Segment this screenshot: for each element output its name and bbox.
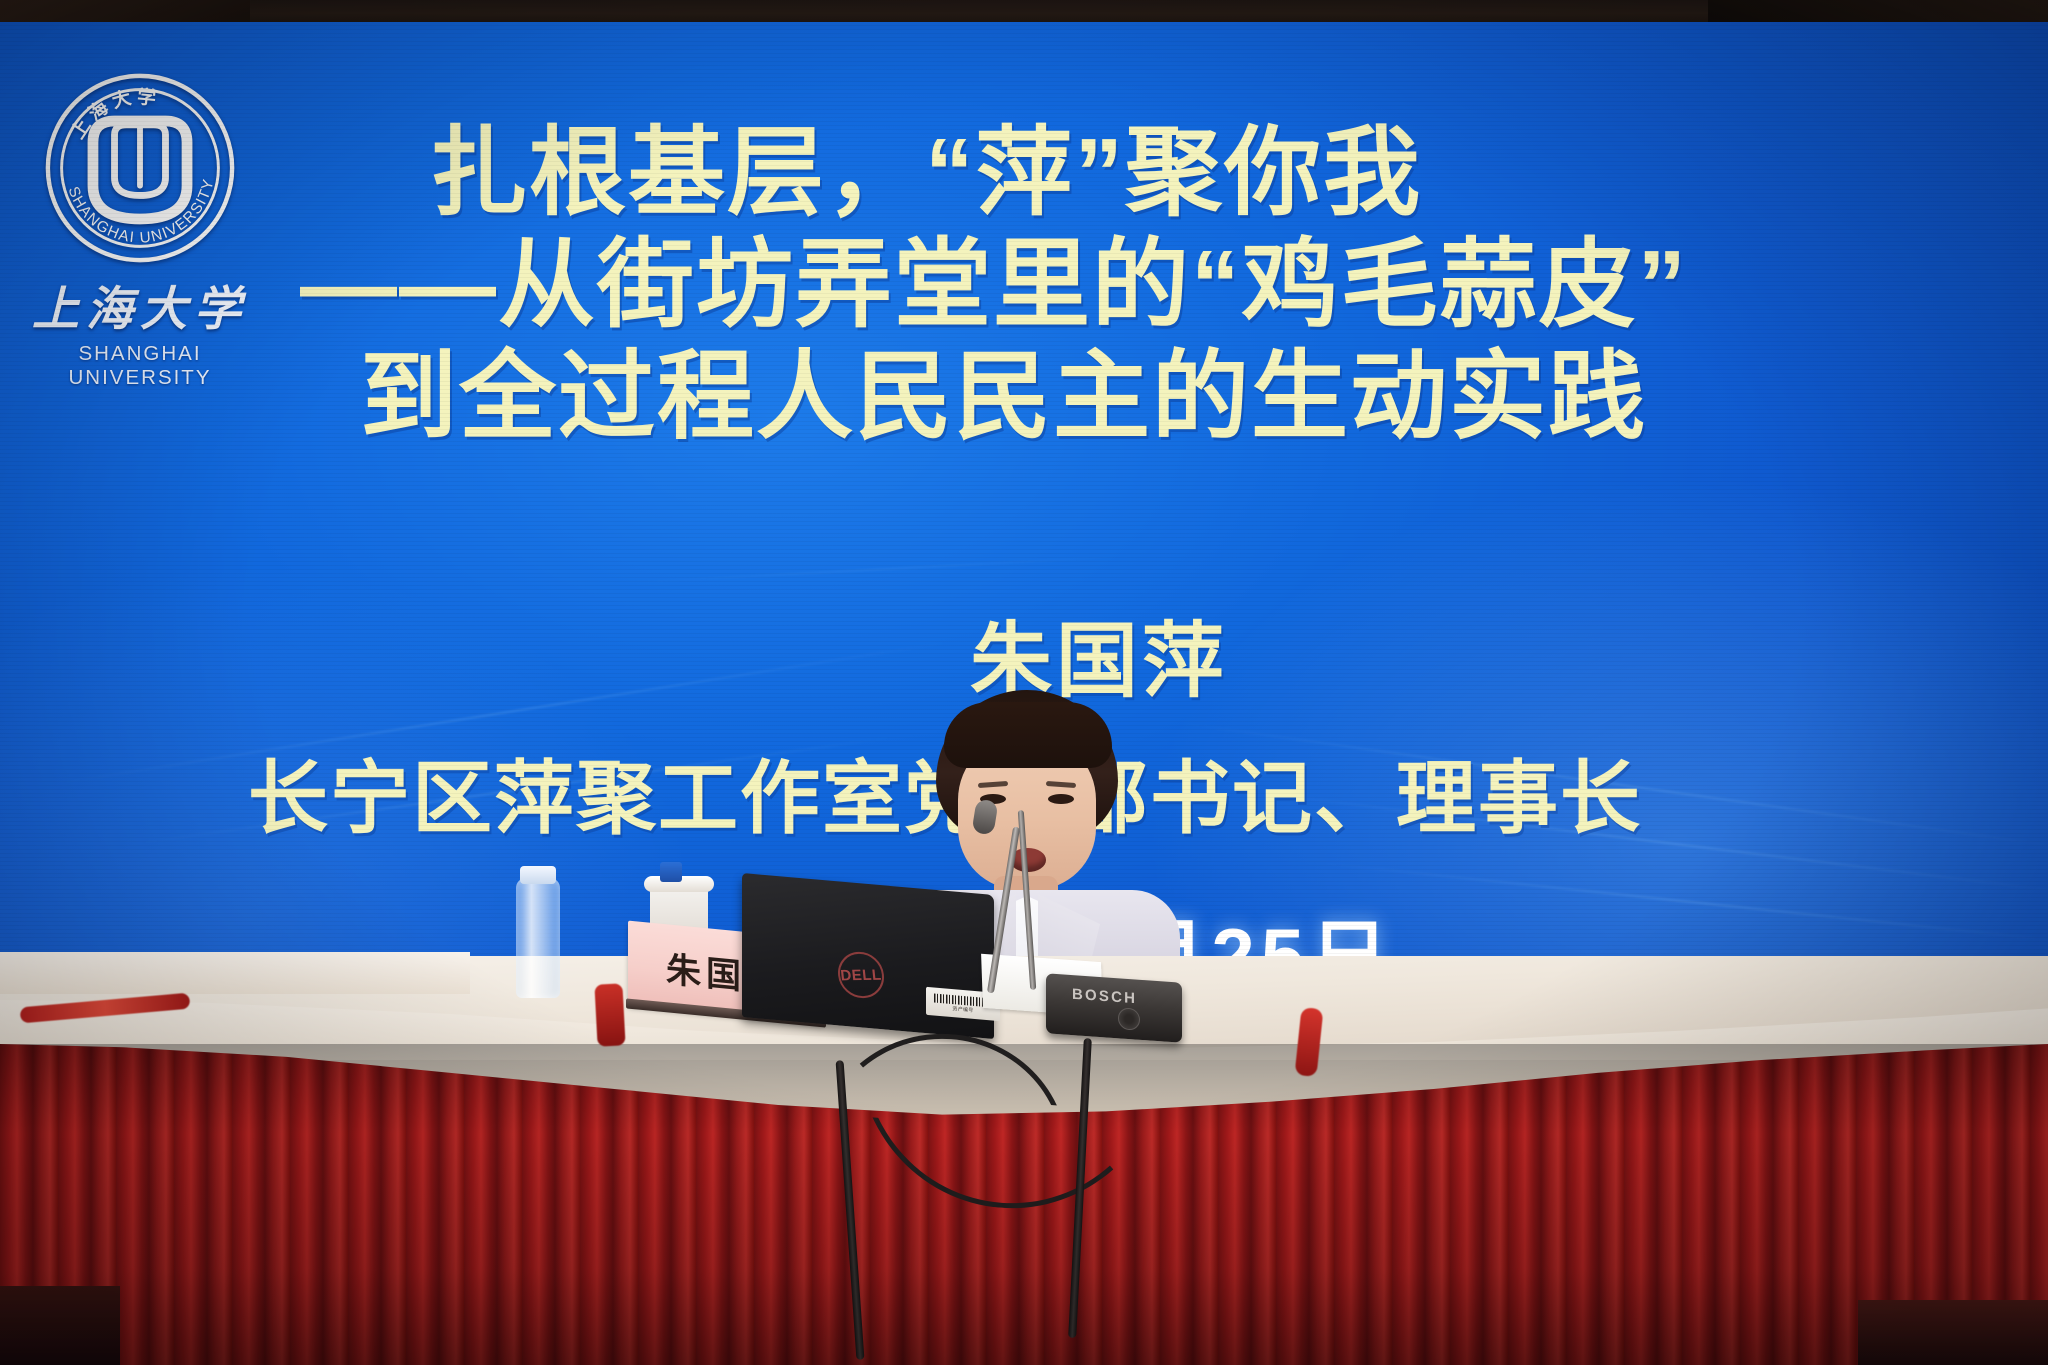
light-streak xyxy=(1320,862,2048,941)
floor-right xyxy=(1858,1300,2048,1365)
university-brand-block: 上 海 大 学 SHANGHAI UNIVERSITY 上海大学 SHANGHA… xyxy=(6,70,274,390)
speaker-fringe xyxy=(944,702,1112,768)
slide-title-line-3: 到全过程人民民主的生动实践 xyxy=(360,342,1647,453)
screen-glow-right xyxy=(1128,462,2048,962)
stage-table-top-left xyxy=(0,952,470,994)
slide-title-line-2: ——从街坊弄堂里的“鸡毛蒜皮” xyxy=(300,230,1688,341)
microphone-talk-button[interactable] xyxy=(1118,1007,1140,1031)
bosch-microphone-base[interactable] xyxy=(1046,973,1182,1043)
red-trim-middle xyxy=(594,983,625,1046)
slide-title-line-1: 扎根基层，“萍”聚你我 xyxy=(430,118,1422,229)
university-name-cn: 上海大学 xyxy=(6,270,274,339)
screenshot-stage: 上 海 大 学 SHANGHAI UNIVERSITY 上海大学 SHANGHA… xyxy=(0,0,2048,1365)
floor-left xyxy=(0,1286,120,1365)
water-bottle-cap xyxy=(520,866,556,884)
light-streak xyxy=(620,555,1139,584)
speaker-eye-right xyxy=(1048,794,1074,804)
paper-cup-tab xyxy=(660,862,682,882)
laptop-asset-tag-text: 资产编号 xyxy=(952,1005,973,1014)
shanghai-university-seal-icon: 上 海 大 学 SHANGHAI UNIVERSITY xyxy=(42,70,238,266)
university-name-en: SHANGHAI UNIVERSITY xyxy=(6,342,274,390)
water-bottle[interactable] xyxy=(516,878,560,998)
